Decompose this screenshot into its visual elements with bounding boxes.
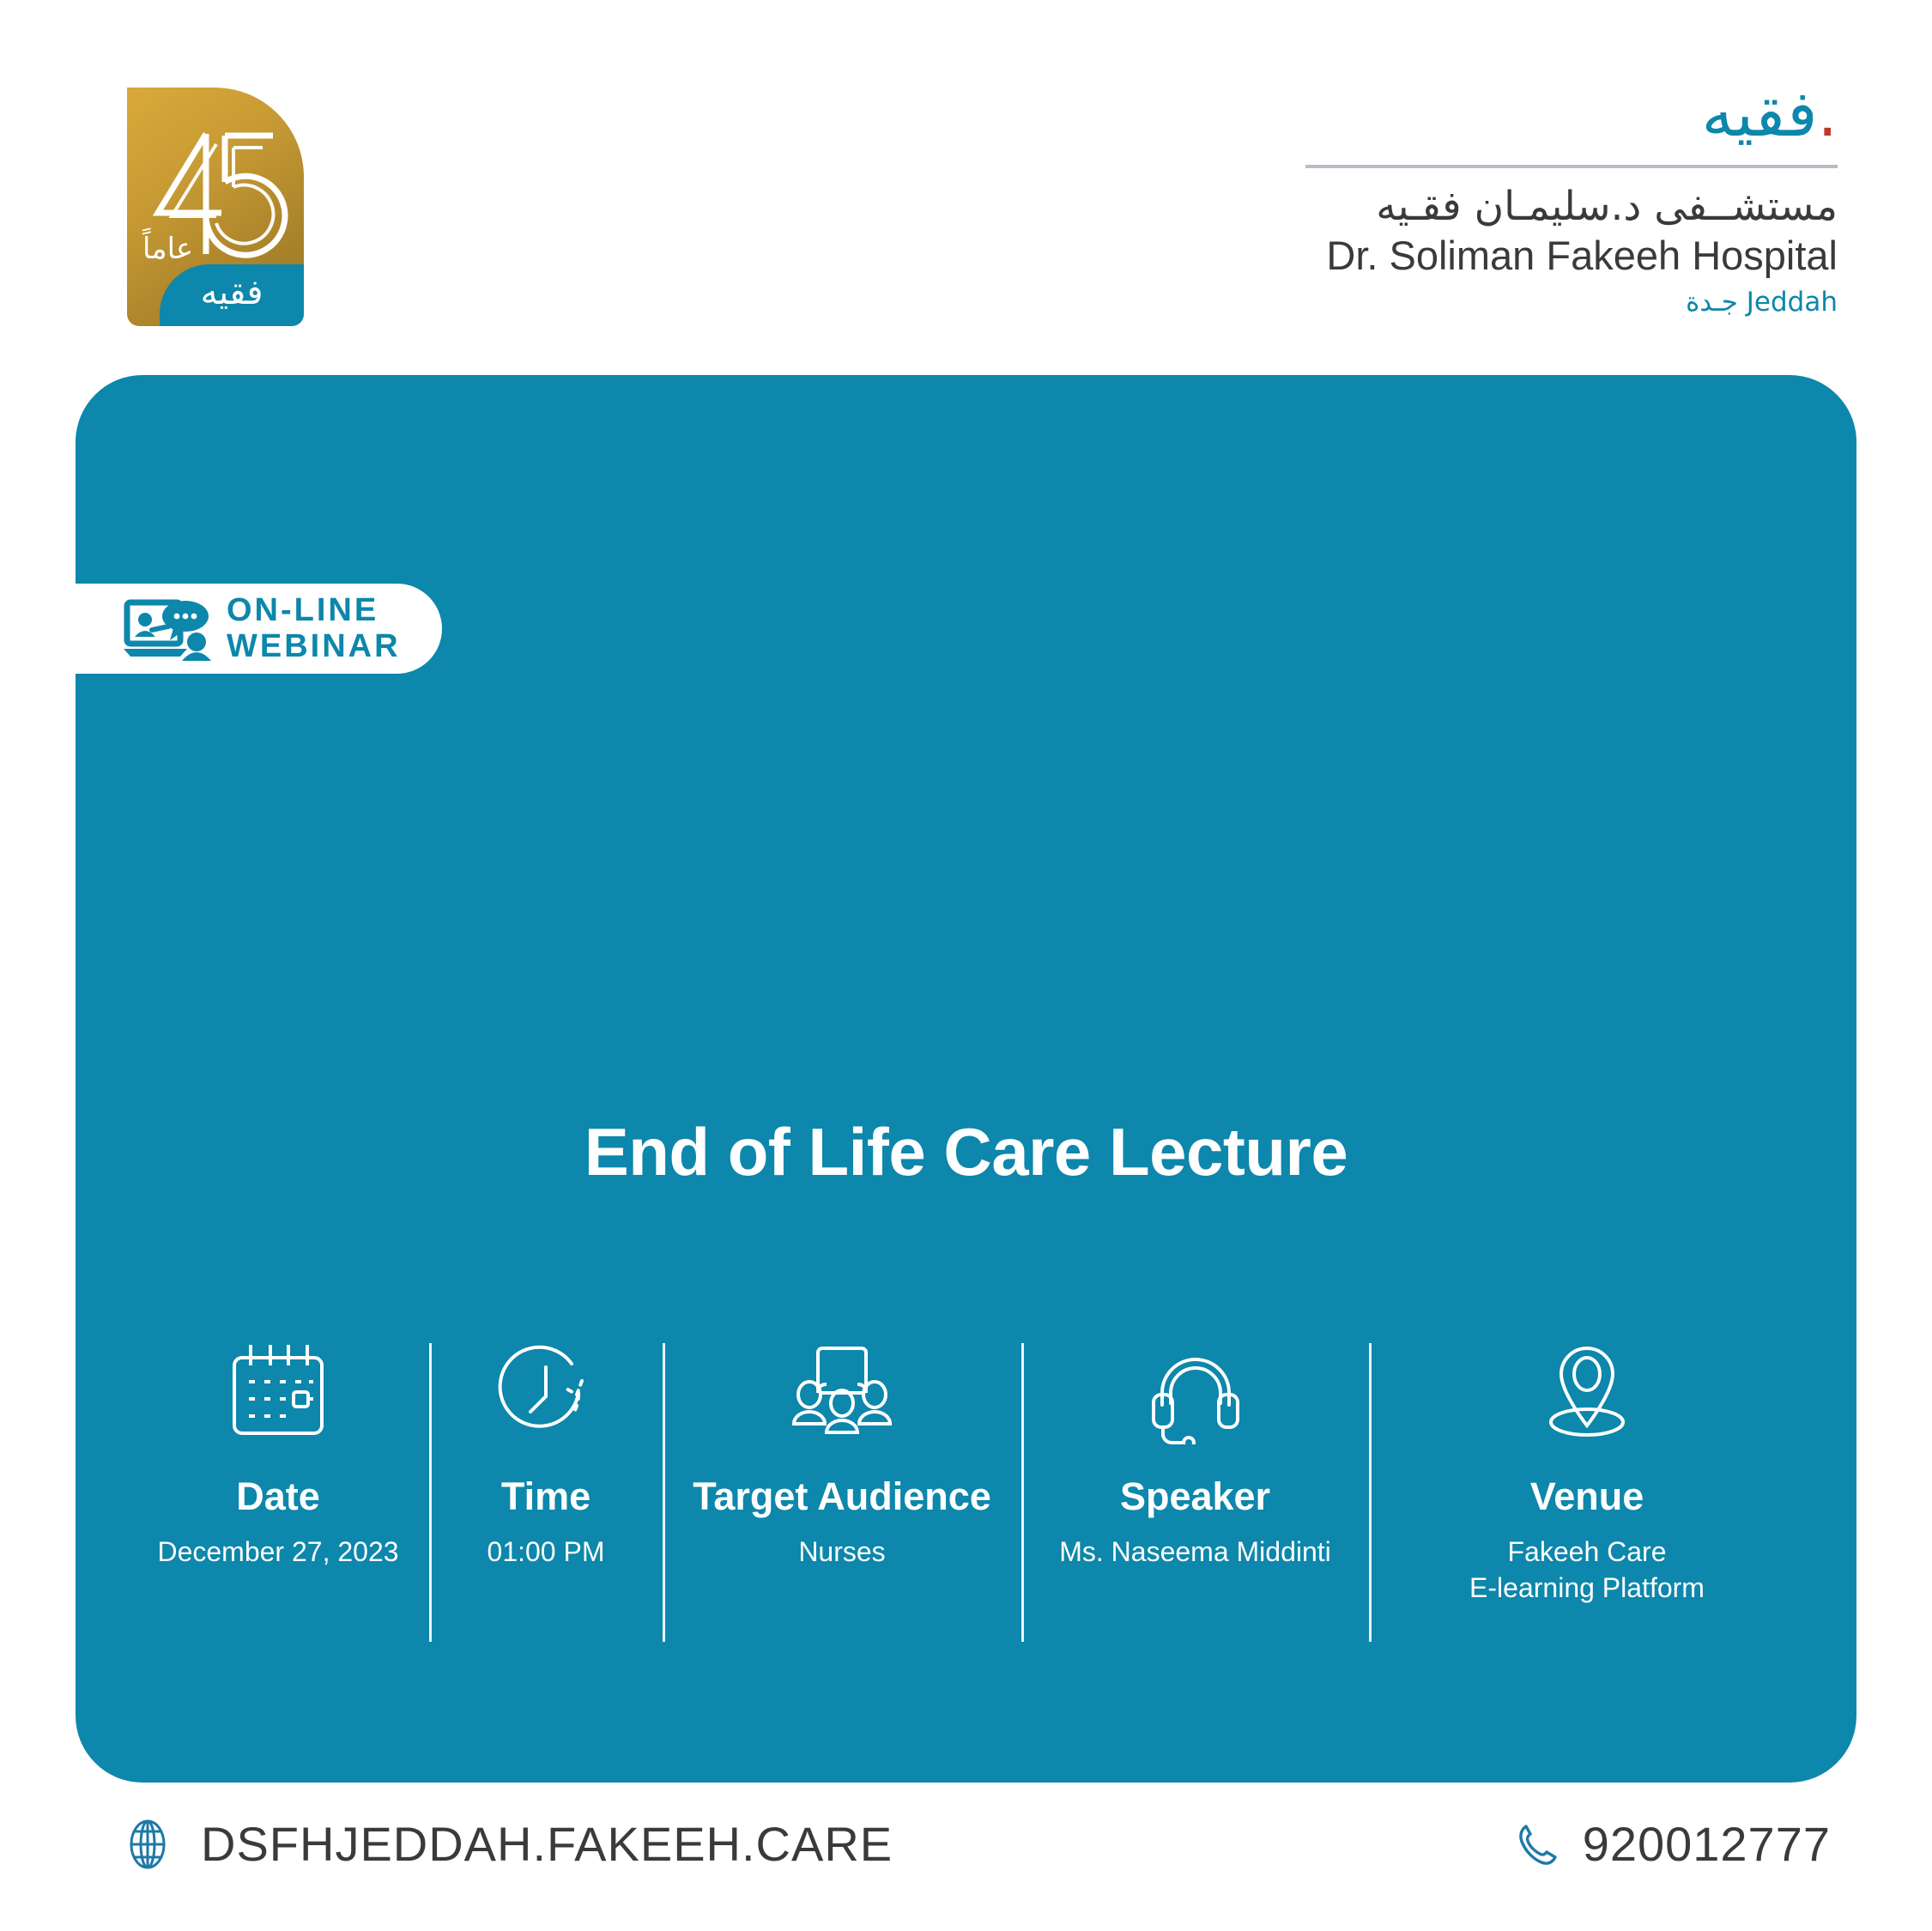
online-webinar-icon	[124, 597, 213, 661]
info-col-date: Date December 27, 2023	[127, 1343, 429, 1606]
clock-icon	[493, 1343, 599, 1444]
info-col-audience: Target Audience Nurses	[663, 1343, 1021, 1606]
phone-link[interactable]: 920012777	[1516, 1816, 1831, 1872]
online-webinar-label: ON-LINE WEBINAR	[227, 593, 401, 663]
page-header: عاماً فقيه .فقيه مستشــفى د.سليمـان فقـي…	[0, 0, 1932, 360]
event-title: End of Life Care Lecture	[76, 1113, 1856, 1191]
fakeeh-logo-wordmark: .فقيه	[1305, 82, 1838, 146]
online-webinar-badge: ON-LINE WEBINAR	[76, 584, 442, 674]
info-label-speaker: Speaker	[1120, 1477, 1270, 1516]
audience-board-icon	[782, 1343, 902, 1444]
calendar-icon	[223, 1343, 333, 1444]
info-col-speaker: Speaker Ms. Naseema Middinti	[1021, 1343, 1369, 1606]
info-value-date: December 27, 2023	[157, 1535, 398, 1571]
info-value-audience: Nurses	[798, 1535, 885, 1571]
fakeeh-logo-dot: .	[1817, 77, 1838, 151]
location-pin-icon	[1535, 1343, 1638, 1444]
phone-icon	[1516, 1821, 1559, 1867]
info-label-time: Time	[501, 1477, 591, 1516]
event-card: ON-LINE WEBINAR End of Life Care Lecture	[76, 375, 1856, 1783]
hospital-name-english: Dr. Soliman Fakeeh Hospital	[1305, 232, 1838, 280]
brand-divider	[1305, 165, 1838, 168]
anniversary-fakeeh-word: فقيه	[201, 275, 263, 315]
webinar-line1: ON-LINE	[227, 593, 401, 628]
info-label-audience: Target Audience	[693, 1477, 991, 1516]
website-text: DSFHJEDDAH.FAKEEH.CARE	[201, 1816, 893, 1872]
info-value-time: 01:00 PM	[488, 1535, 605, 1571]
anniversary-years-label: عاماً	[142, 232, 193, 266]
hospital-name-arabic: مستشــفى د.سليمـان فقـيه	[1305, 184, 1838, 230]
phone-text: 920012777	[1583, 1816, 1831, 1872]
event-info-row: Date December 27, 2023 Time 01:00 PM	[127, 1343, 1805, 1606]
info-col-venue: Venue Fakeeh Care E-learning Platform	[1369, 1343, 1805, 1606]
info-label-date: Date	[236, 1477, 320, 1516]
anniversary-45-badge: عاماً فقيه	[127, 88, 304, 326]
info-value-venue: Fakeeh Care E-learning Platform	[1469, 1535, 1705, 1606]
fakeeh-logo-arabic: فقيه	[1702, 77, 1818, 151]
anniversary-fakeeh-wordmark: فقيه	[160, 264, 304, 326]
headset-icon	[1142, 1343, 1250, 1444]
info-col-time: Time 01:00 PM	[429, 1343, 663, 1606]
globe-icon	[124, 1819, 172, 1870]
info-label-venue: Venue	[1530, 1477, 1644, 1516]
website-link[interactable]: DSFHJEDDAH.FAKEEH.CARE	[124, 1816, 893, 1872]
page-footer: DSFHJEDDAH.FAKEEH.CARE 920012777	[0, 1783, 1932, 1931]
webinar-line2: WEBINAR	[227, 629, 401, 664]
info-value-speaker: Ms. Naseema Middinti	[1059, 1535, 1331, 1571]
hospital-city: جـدة Jeddah	[1305, 287, 1838, 318]
hospital-brand-block: .فقيه مستشــفى د.سليمـان فقـيه Dr. Solim…	[1305, 82, 1838, 318]
